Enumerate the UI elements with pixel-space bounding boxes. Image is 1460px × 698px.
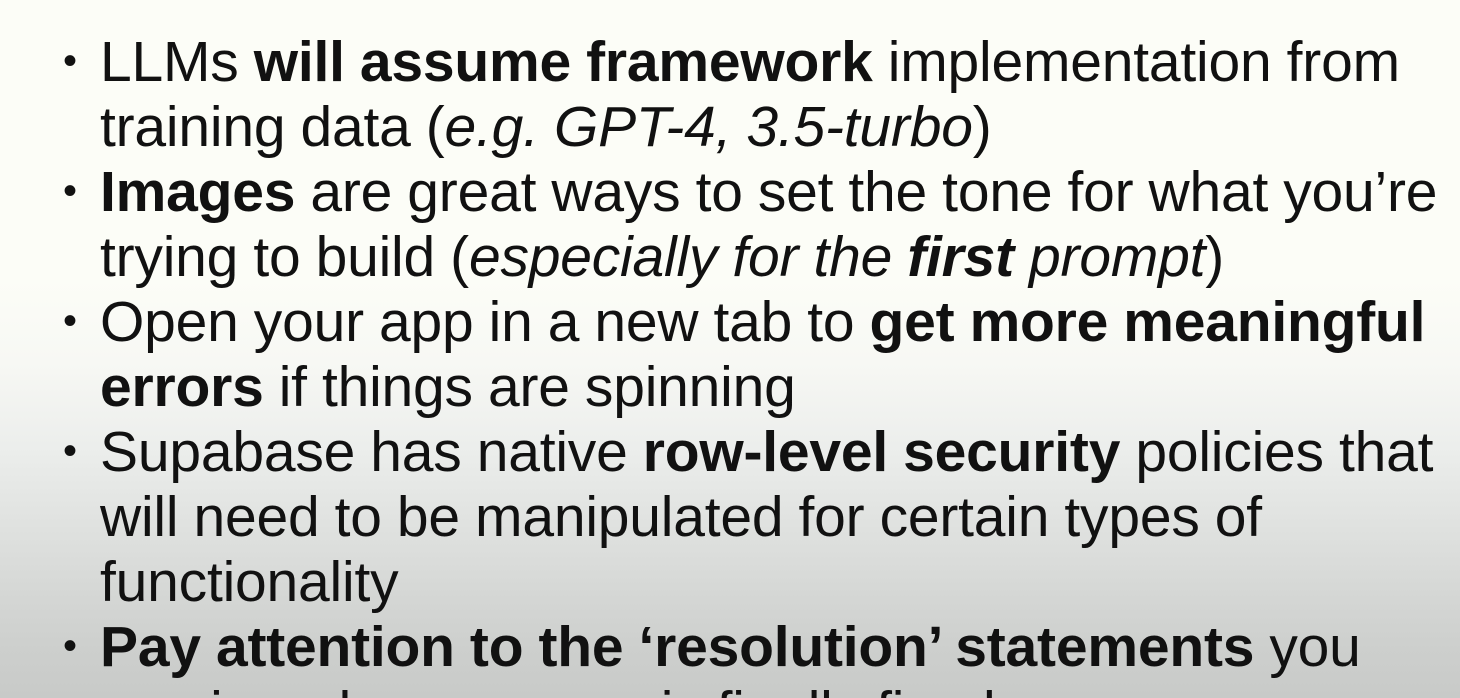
bullet-resolution-statements: Pay attention to the ‘resolution’ statem… (100, 615, 1450, 698)
bullet-point-icon: • (63, 615, 85, 680)
list-item: • Open your app in a new tab to get more… (0, 290, 1460, 420)
bullet-point-icon: • (63, 30, 85, 95)
bullet-point-icon: • (63, 160, 85, 225)
list-item: • Supabase has native row-level security… (0, 420, 1460, 615)
list-item: • Images are great ways to set the tone … (0, 160, 1460, 290)
slide-canvas: • LLMs will assume framework implementat… (0, 0, 1460, 698)
bullet-llms-assume-framework: LLMs will assume framework implementatio… (100, 30, 1450, 160)
bullet-list: • LLMs will assume framework implementat… (0, 0, 1460, 698)
bullet-point-icon: • (63, 420, 85, 485)
list-item: • LLMs will assume framework implementat… (0, 30, 1460, 160)
bullet-supabase-rls: Supabase has native row-level security p… (100, 420, 1450, 615)
list-item: • Pay attention to the ‘resolution’ stat… (0, 615, 1460, 698)
bullet-point-icon: • (63, 290, 85, 355)
bullet-images-set-tone: Images are great ways to set the tone fo… (100, 160, 1450, 290)
bullet-open-app-new-tab: Open your app in a new tab to get more m… (100, 290, 1450, 420)
